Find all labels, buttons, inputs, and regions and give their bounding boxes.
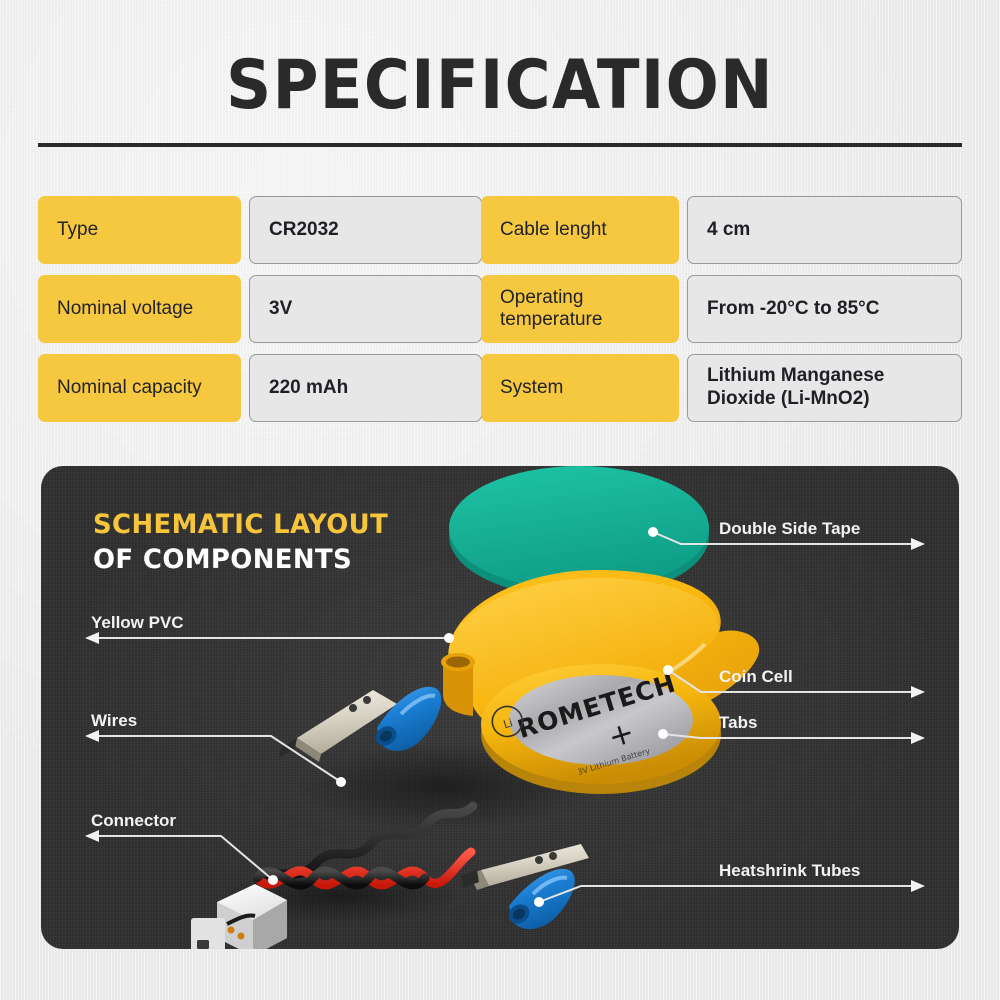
callout-label-heatshrink-tubes: Heatshrink Tubes [719, 861, 860, 881]
table-row: Type CR2032 [38, 196, 482, 264]
spec-value-nominal-capacity: 220 mAh [249, 354, 482, 422]
table-row: System Lithium Manganese Dioxide (Li-MnO… [481, 354, 962, 422]
spec-key-system: System [481, 354, 679, 422]
leader-heatshrink-tubes [539, 886, 913, 902]
callout-label-tabs: Tabs [719, 713, 757, 733]
spec-column-right: Cable lenght 4 cm Operating temperature … [481, 196, 962, 433]
callout-label-double-side-tape: Double Side Tape [719, 519, 860, 539]
spec-key-nominal-voltage: Nominal voltage [38, 275, 241, 343]
leader-connector [96, 836, 273, 880]
spec-value-system: Lithium Manganese Dioxide (Li-MnO2) [687, 354, 962, 422]
spec-key-nominal-capacity: Nominal capacity [38, 354, 241, 422]
callout-label-wires: Wires [91, 711, 137, 731]
table-row: Operating temperature From -20°C to 85°C [481, 275, 962, 343]
callout-label-coin-cell: Coin Cell [719, 667, 793, 687]
spec-key-operating-temperature: Operating temperature [481, 275, 679, 343]
spec-key-cable-lenght: Cable lenght [481, 196, 679, 264]
callout-label-yellow-pvc: Yellow PVC [91, 613, 184, 633]
spec-value-type: CR2032 [249, 196, 482, 264]
spec-value-cable-lenght: 4 cm [687, 196, 962, 264]
specification-page: SPECIFICATION Type CR2032 Nominal voltag… [0, 0, 1000, 1000]
spec-key-type: Type [38, 196, 241, 264]
title-divider [38, 143, 962, 147]
leader-wires [96, 736, 341, 782]
table-row: Nominal capacity 220 mAh [38, 354, 482, 422]
schematic-panel: SCHEMATIC LAYOUT OF COMPONENTS [41, 466, 959, 949]
leader-tabs [663, 734, 913, 738]
page-title: SPECIFICATION [40, 46, 960, 125]
spec-value-operating-temperature: From -20°C to 85°C [687, 275, 962, 343]
table-row: Cable lenght 4 cm [481, 196, 962, 264]
spec-value-nominal-voltage: 3V [249, 275, 482, 343]
callout-label-connector: Connector [91, 811, 176, 831]
table-row: Nominal voltage 3V [38, 275, 482, 343]
spec-column-left: Type CR2032 Nominal voltage 3V Nominal c… [38, 196, 482, 433]
